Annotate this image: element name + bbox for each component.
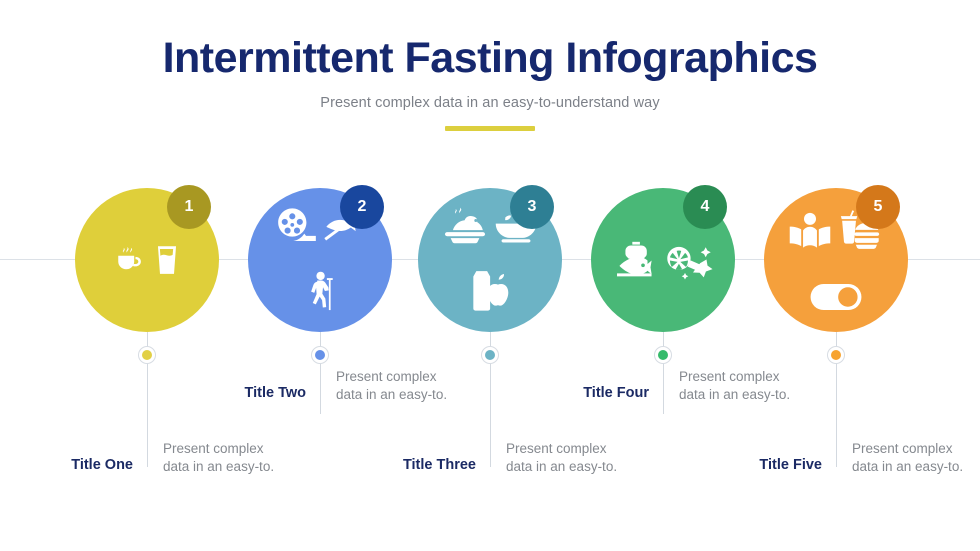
step-node-dot-fill	[315, 350, 325, 360]
fish-jar-icon	[613, 240, 659, 280]
step-number: 1	[185, 199, 194, 215]
step-number-badge: 2	[340, 185, 384, 229]
step-node-dot[interactable]	[827, 346, 845, 364]
step-node-dot-fill	[485, 350, 495, 360]
step-number: 3	[528, 199, 537, 215]
person-reading-icon	[788, 211, 832, 251]
step-number: 4	[701, 199, 710, 215]
step-node-dot-fill	[831, 350, 841, 360]
step-title: Title Four	[449, 385, 649, 401]
step-node-dot[interactable]	[481, 346, 499, 364]
step-title: Title Three	[276, 457, 476, 473]
water-glass-icon	[154, 243, 180, 277]
step-title: Title Five	[622, 457, 822, 473]
step-number-badge: 5	[856, 185, 900, 229]
step-description: Present complex data in an easy-to.	[506, 440, 624, 476]
step-number-badge: 4	[683, 185, 727, 229]
step-node-dot-fill	[142, 350, 152, 360]
step-number: 5	[874, 199, 883, 215]
roast-dish-icon	[442, 207, 488, 245]
film-reel-icon	[277, 207, 317, 245]
step-number-badge: 1	[167, 185, 211, 229]
step-title: Title Two	[106, 385, 306, 401]
step-description: Present complex data in an easy-to.	[336, 368, 454, 404]
page-subtitle: Present complex data in an easy-to-under…	[0, 81, 980, 111]
coffee-cup-icon	[114, 243, 148, 277]
slide-header: Intermittent Fasting Infographics Presen…	[0, 0, 980, 111]
step-connector-line	[320, 332, 321, 414]
hiker-icon	[305, 271, 335, 313]
step-connector-line	[663, 332, 664, 414]
step-description: Present complex data in an easy-to.	[852, 440, 970, 476]
step-description: Present complex data in an easy-to.	[163, 440, 281, 476]
step-node-dot[interactable]	[311, 346, 329, 364]
step-number-badge: 3	[510, 185, 554, 229]
page-title: Intermittent Fasting Infographics	[0, 0, 980, 81]
toggle-switch-icon	[810, 283, 862, 311]
step-node-dot[interactable]	[138, 346, 156, 364]
step-node-dot[interactable]	[654, 346, 672, 364]
candy-icon	[665, 240, 713, 280]
accent-rule	[445, 126, 535, 131]
step-title: Title One	[0, 457, 133, 473]
step-node-dot-fill	[658, 350, 668, 360]
step-description: Present complex data in an easy-to.	[679, 368, 797, 404]
step-number: 2	[358, 199, 367, 215]
milk-apple-icon	[468, 270, 512, 314]
